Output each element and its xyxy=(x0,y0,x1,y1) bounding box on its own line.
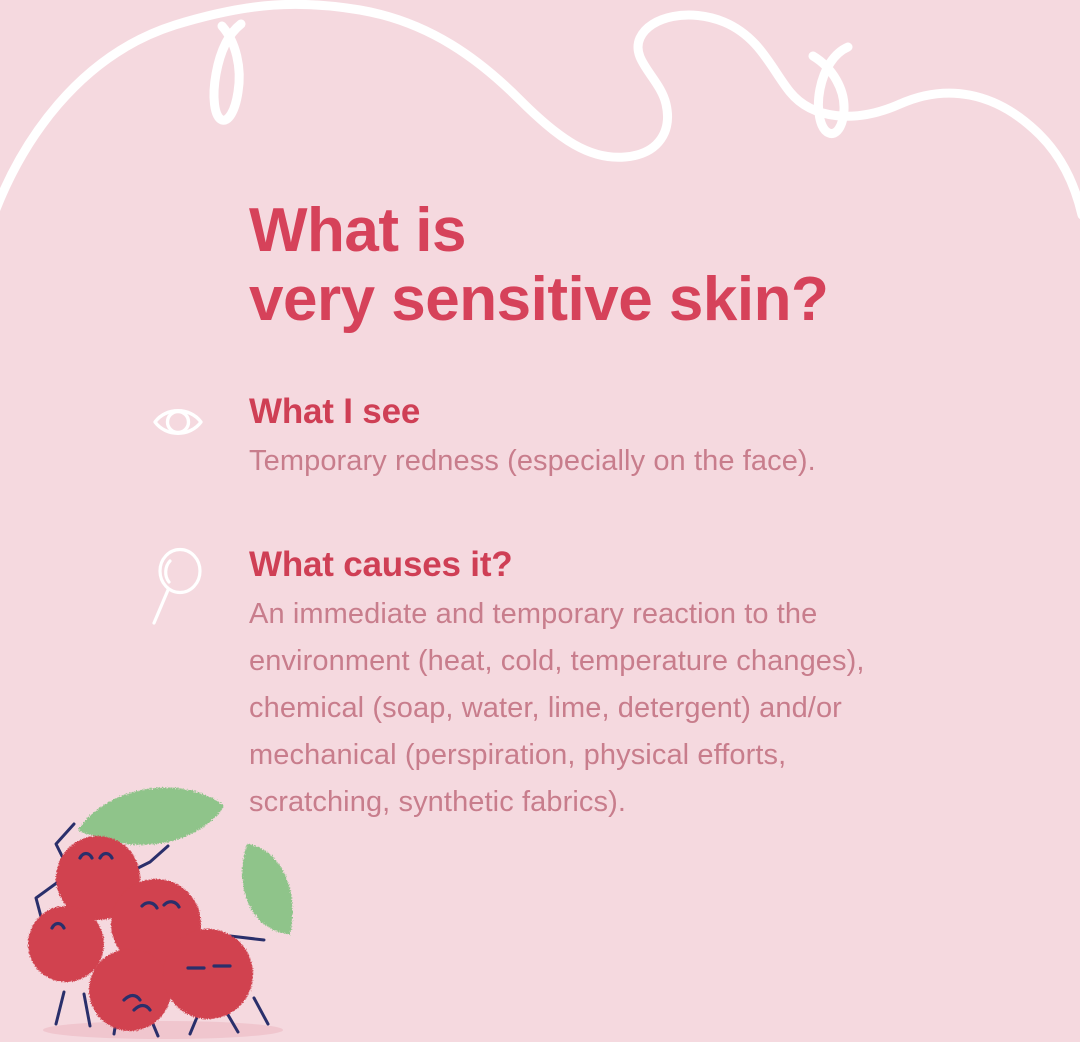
section-text: An immediate and temporary reaction to t… xyxy=(249,591,979,826)
page-title: What is very sensitive skin? xyxy=(249,196,1029,335)
section-body: What I see Temporary redness (especially… xyxy=(249,392,980,485)
section-text-line: Temporary redness (especially on the fac… xyxy=(249,438,979,485)
magnifier-icon xyxy=(150,545,222,631)
berry xyxy=(28,906,104,982)
page-title-line-1: What is xyxy=(249,196,1029,265)
section-body: What causes it? An immediate and tempora… xyxy=(249,545,980,826)
berry-group xyxy=(28,836,253,1031)
section-text-line: mechanical (perspiration, physical effor… xyxy=(249,732,979,779)
leaf-right xyxy=(242,844,292,934)
page-title-line-2: very sensitive skin? xyxy=(249,265,1029,334)
berry xyxy=(163,929,253,1019)
section-title: What I see xyxy=(249,392,980,431)
berry xyxy=(89,949,171,1031)
section-what-i-see: What I see Temporary redness (especially… xyxy=(150,392,980,485)
section-text-line: chemical (soap, water, lime, detergent) … xyxy=(249,685,979,732)
eye-icon xyxy=(150,392,222,478)
section-text-line: An immediate and temporary reaction to t… xyxy=(249,591,979,638)
section-title: What causes it? xyxy=(249,545,980,584)
section-text-line: environment (heat, cold, temperature cha… xyxy=(249,638,979,685)
berry xyxy=(111,879,201,969)
berry-faces xyxy=(52,854,230,1011)
berry xyxy=(56,836,140,920)
section-what-causes-it: What causes it? An immediate and tempora… xyxy=(150,545,980,826)
section-text: Temporary redness (especially on the fac… xyxy=(249,438,979,485)
infographic-card: What is very sensitive skin? What I see … xyxy=(0,0,1080,1042)
section-text-line: scratching, synthetic fabrics). xyxy=(249,779,979,826)
ground-shadow xyxy=(43,1021,283,1039)
berry-limbs xyxy=(36,824,268,1036)
